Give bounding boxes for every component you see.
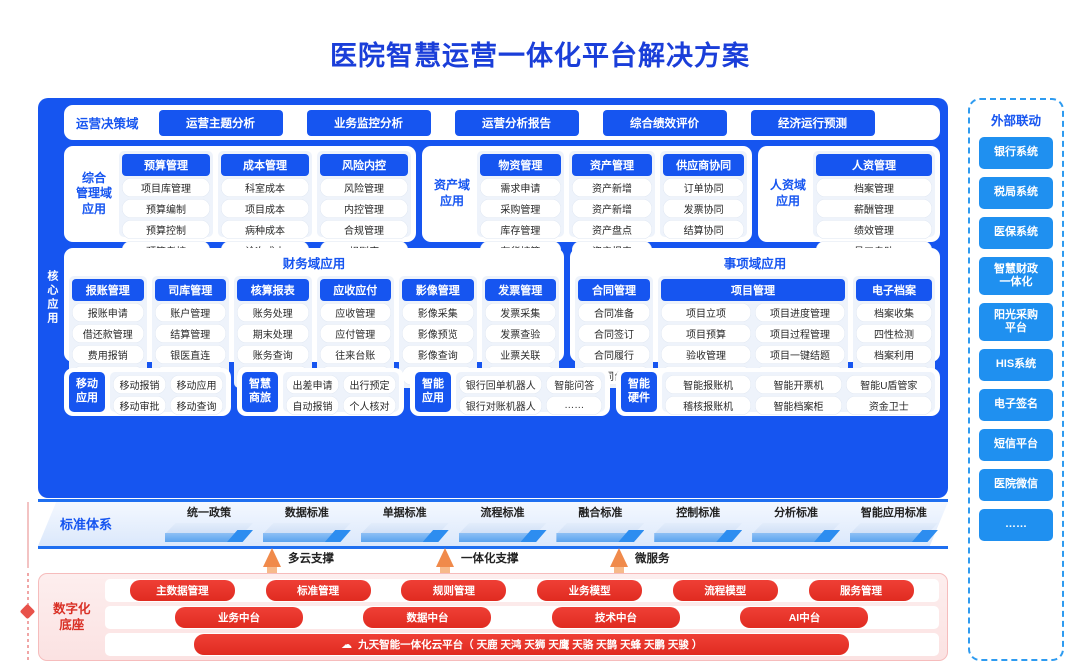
chip[interactable]: 合同签订 [578, 324, 650, 343]
chip[interactable]: 影像预览 [402, 324, 474, 343]
column-head[interactable]: 项目管理 [661, 279, 845, 301]
chip[interactable]: 需求申请 [480, 178, 561, 197]
chip[interactable]: 验收管理 [661, 345, 751, 364]
left-diamond-marker [20, 604, 36, 620]
chip[interactable]: 业票关联 [485, 345, 557, 364]
standard-system-label: 标准体系 [60, 514, 112, 533]
domain-label-hr: 人资域 应用 [763, 151, 813, 237]
sidebar-item-medical-insurance-system[interactable]: 医保系统 [979, 217, 1053, 249]
domain-label-line-1: 综合 [82, 171, 106, 187]
domain-label-line-1: 资产域 [434, 178, 470, 194]
chip[interactable]: 报账申请 [72, 303, 144, 322]
badge-line-1: 智慧 [249, 378, 271, 392]
chip[interactable]: 科室成本 [221, 178, 309, 197]
decision-item-4[interactable]: 经济运行预测 [751, 110, 875, 136]
standard-item[interactable]: 单据标准 [359, 504, 451, 546]
decision-item-3[interactable]: 综合绩效评价 [603, 110, 727, 136]
column-risk-control: 风险内控 风险管理 内控管理 合规管理 规则库 [317, 151, 411, 237]
chip[interactable]: 自动报销 [286, 396, 339, 415]
column-head[interactable]: 司库管理 [155, 279, 227, 301]
chip[interactable]: 档案管理 [816, 178, 932, 197]
left-rail-upper [27, 502, 29, 568]
foundation-row-midplatforms: 业务中台 数据中台 技术中台 AI中台 [105, 606, 939, 629]
column-head[interactable]: 核算报表 [237, 279, 309, 301]
chip[interactable]: 合同履行 [578, 345, 650, 364]
chip[interactable]: 资产新增 [572, 178, 653, 197]
chip[interactable]: 项目过程管理 [755, 324, 845, 343]
foundation-item[interactable]: 服务管理 [809, 580, 914, 601]
smart-travel-badge: 智慧 商旅 [242, 372, 278, 412]
arrow-up-icon [610, 548, 628, 567]
column-asset-management: 资产管理 资产新增 资产新增 资产盘点 资产报表 [569, 151, 656, 237]
decision-domain-label: 运营决策域 [76, 113, 139, 132]
standard-item[interactable]: 流程标准 [457, 504, 549, 546]
foundation-item[interactable]: 流程模型 [673, 580, 778, 601]
standard-item-label: 数据标准 [261, 504, 353, 520]
arrow-label: 微服务 [635, 550, 670, 566]
arrow-up-icon [436, 548, 454, 567]
column-head[interactable]: 人资管理 [816, 154, 932, 176]
sidebar-item-electronic-signature[interactable]: 电子签名 [979, 389, 1053, 421]
column-head[interactable]: 风险内控 [320, 154, 408, 176]
chip[interactable]: 项目成本 [221, 199, 309, 218]
column-head[interactable]: 资产管理 [572, 154, 653, 176]
slab-icon [752, 523, 840, 543]
column-head[interactable]: 物资管理 [480, 154, 561, 176]
decision-item-0[interactable]: 运营主题分析 [159, 110, 283, 136]
chip[interactable]: 发票查验 [485, 324, 557, 343]
sidebar-item-his-system[interactable]: HIS系统 [979, 349, 1053, 381]
standard-item-label: 融合标准 [554, 504, 646, 520]
chip[interactable]: 智能问答 [546, 375, 602, 394]
chip[interactable]: 出行预定 [343, 375, 396, 394]
slab-icon [361, 523, 449, 543]
decision-domain-row: 运营决策域 运营主题分析 业务监控分析 运营分析报告 综合绩效评价 经济运行预测 [64, 105, 940, 140]
smart-hardware-card: 智能 硬件 智能报账机 智能开票机 智能U盾管家 稽核报账机 智能档案柜 资金卫… [616, 368, 940, 416]
chip[interactable]: 账户管理 [155, 303, 227, 322]
core-application-body: 运营决策域 运营主题分析 业务监控分析 运营分析报告 综合绩效评价 经济运行预测… [64, 98, 948, 498]
column-head[interactable]: 报账管理 [72, 279, 144, 301]
chip[interactable]: 智能报账机 [665, 375, 751, 394]
slab-icon [556, 523, 644, 543]
chip[interactable]: 影像查询 [402, 345, 474, 364]
chip[interactable]: 移动报销 [113, 375, 166, 394]
chip[interactable]: 账务查询 [237, 345, 309, 364]
matters-domain-card: 事项域应用 合同管理 合同准备 合同签订 合同履行 合同台账 项目管理 [570, 248, 940, 362]
support-arrow-multi-cloud: 多云支撑 [263, 548, 334, 567]
finance-domain-card: 财务域应用 报账管理 报账申请 借还款管理 费用报销 报账查询 司库管理 账户管… [64, 248, 564, 362]
chip[interactable]: 资金卫士 [846, 396, 932, 415]
chip[interactable]: 移动查询 [170, 396, 223, 415]
foundation-row-capabilities: 主数据管理 标准管理 规则管理 业务模型 流程模型 服务管理 [105, 579, 939, 602]
chip[interactable]: 移动应用 [170, 375, 223, 394]
cloud-platform-label: 九天智能一体化云平台（ 天鹿 天鸿 天狮 天鹰 天骆 天鹊 天蜂 天鹏 天骏 ） [358, 637, 702, 652]
sidebar-item-sunshine-procurement[interactable]: 阳光采购 平台 [979, 303, 1053, 341]
standard-item-label: 分析标准 [750, 504, 842, 520]
sidebar-item-bank-system[interactable]: 银行系统 [979, 137, 1053, 169]
chip[interactable]: …… [546, 396, 602, 415]
standard-item-label: 流程标准 [457, 504, 549, 520]
column-head[interactable]: 合同管理 [578, 279, 650, 301]
chip[interactable]: 出差申请 [286, 375, 339, 394]
chip[interactable]: 智能开票机 [755, 375, 841, 394]
chip[interactable]: 资产盘点 [572, 220, 653, 239]
matters-domain-title: 事项域应用 [575, 252, 935, 276]
chip[interactable]: 合同准备 [578, 303, 650, 322]
foundation-label-line-1: 数字化 [53, 601, 91, 617]
foundation-item[interactable]: 业务模型 [537, 580, 642, 601]
chip[interactable]: 项目库管理 [122, 178, 210, 197]
cloud-platform-banner[interactable]: ☁ 九天智能一体化云平台（ 天鹿 天鸿 天狮 天鹰 天骆 天鹊 天蜂 天鹏 天骏… [194, 634, 849, 655]
column-material-management: 物资管理 需求申请 采购管理 库存管理 存货核算 [477, 151, 564, 237]
sidebar-title: 外部联动 [991, 110, 1041, 129]
standard-item-label: 智能应用标准 [848, 504, 940, 520]
chip[interactable]: 病种成本 [221, 220, 309, 239]
diagram-frame: 核心应用 运营决策域 运营主题分析 业务监控分析 运营分析报告 综合绩效评价 经… [0, 78, 1080, 627]
chip[interactable]: 项目预算 [661, 324, 751, 343]
domain-card-hr: 人资域 应用 人资管理 档案管理 薪酬管理 绩效管理 员工自助 [758, 146, 940, 242]
foundation-item[interactable]: 主数据管理 [130, 580, 235, 601]
chip[interactable]: 发票协同 [663, 199, 744, 218]
chip[interactable]: 个人核对 [343, 396, 396, 415]
badge-line-2: 商旅 [249, 392, 271, 406]
chip[interactable]: 应付管理 [320, 324, 392, 343]
cloud-icon: ☁ [341, 638, 352, 651]
domain-label-line-2: 管理域 [76, 186, 112, 202]
badge-line-2: 应用 [76, 392, 98, 406]
chip[interactable]: 智能U盾管家 [846, 375, 932, 394]
standard-items: 统一政策 数据标准 单据标准 流程标准 融合标准 控制标准 [163, 502, 940, 546]
foundation-row-cloud: ☁ 九天智能一体化云平台（ 天鹿 天鸿 天狮 天鹰 天骆 天鹊 天蜂 天鹏 天骏… [105, 633, 939, 656]
slab-icon [850, 523, 938, 543]
chip[interactable]: 影像采集 [402, 303, 474, 322]
smart-application-card: 智能 应用 银行回单机器人 智能问答 银行对账机器人 …… [410, 368, 610, 416]
chip[interactable]: 移动审批 [113, 396, 166, 415]
standard-item[interactable]: 融合标准 [554, 504, 646, 546]
chip[interactable]: 项目立项 [661, 303, 751, 322]
chip[interactable]: 银医直连 [155, 345, 227, 364]
chip[interactable]: 内控管理 [320, 199, 408, 218]
domain-label-comprehensive: 综合 管理域 应用 [69, 151, 119, 237]
slab-icon [654, 523, 742, 543]
chip[interactable]: 订单协同 [663, 178, 744, 197]
domain-card-comprehensive: 综合 管理域 应用 预算管理 项目库管理 预算编制 预算控制 预算考核 [64, 146, 416, 242]
chip[interactable]: 薪酬管理 [816, 199, 932, 218]
column-head[interactable]: 预算管理 [122, 154, 210, 176]
domain-label-asset: 资产域 应用 [427, 151, 477, 237]
column-head[interactable]: 应收应付 [320, 279, 392, 301]
chip[interactable]: 预算控制 [122, 220, 210, 239]
standard-system-band: 标准体系 统一政策 数据标准 单据标准 流程标准 融合标准 [38, 502, 948, 546]
external-linkage-sidebar: 外部联动 银行系统 税局系统 医保系统 智慧财政 一体化 阳光采购 平台 HIS… [968, 98, 1064, 661]
badge-line-1: 智能 [422, 378, 444, 392]
column-cost-management: 成本管理 科室成本 项目成本 病种成本 诊次成本 [218, 151, 312, 237]
digital-foundation-label: 数字化 底座 [45, 601, 99, 634]
mobile-application-badge: 移动 应用 [69, 372, 105, 412]
standard-item[interactable]: 数据标准 [261, 504, 353, 546]
chip[interactable]: 应收管理 [320, 303, 392, 322]
foundation-item[interactable]: 业务中台 [175, 607, 303, 628]
chip[interactable]: 档案收集 [856, 303, 932, 322]
mobile-application-card: 移动 应用 移动报销 移动应用 移动审批 移动查询 [64, 368, 231, 416]
standard-item[interactable]: 统一政策 [163, 504, 255, 546]
chip[interactable]: 绩效管理 [816, 220, 932, 239]
chip[interactable]: 结算协同 [663, 220, 744, 239]
standard-item[interactable]: 智能应用标准 [848, 504, 940, 546]
foundation-item[interactable]: AI中台 [740, 607, 868, 628]
bottom-cards-row: 移动 应用 移动报销 移动应用 移动审批 移动查询 [64, 368, 940, 416]
column-budget-management: 预算管理 项目库管理 预算编制 预算控制 预算考核 [119, 151, 213, 237]
chip[interactable]: 发票采集 [485, 303, 557, 322]
column-hr-management: 人资管理 档案管理 薪酬管理 绩效管理 员工自助 [813, 151, 935, 237]
domain-label-line-2: 应用 [440, 194, 464, 210]
core-application-panel: 核心应用 运营决策域 运营主题分析 业务监控分析 运营分析报告 综合绩效评价 经… [38, 98, 948, 498]
sidebar-item-more[interactable]: …… [979, 509, 1053, 541]
finance-matters-row: 财务域应用 报账管理 报账申请 借还款管理 费用报销 报账查询 司库管理 账户管… [64, 248, 940, 362]
chip[interactable]: 风险管理 [320, 178, 408, 197]
badge-line-2: 硬件 [628, 392, 650, 406]
standard-item[interactable]: 控制标准 [652, 504, 744, 546]
sidebar-item-sms-platform[interactable]: 短信平台 [979, 429, 1053, 461]
core-application-label: 核心应用 [38, 98, 64, 498]
arrow-label: 一体化支撑 [461, 550, 519, 566]
standard-item[interactable]: 分析标准 [750, 504, 842, 546]
column-supplier-collaboration: 供应商协同 订单协同 发票协同 结算协同 [660, 151, 747, 237]
badge-line-1: 智能 [628, 378, 650, 392]
sidebar-item-tax-system[interactable]: 税局系统 [979, 177, 1053, 209]
chip[interactable]: 项目进度管理 [755, 303, 845, 322]
smart-application-badge: 智能 应用 [415, 372, 451, 412]
sidebar-item-hospital-wechat[interactable]: 医院微信 [979, 469, 1053, 501]
chip[interactable]: 借还款管理 [72, 324, 144, 343]
chip[interactable]: 智能档案柜 [755, 396, 841, 415]
column-head[interactable]: 成本管理 [221, 154, 309, 176]
digital-foundation-panel: 数字化 底座 主数据管理 标准管理 规则管理 业务模型 流程模型 服务管理 业务… [38, 573, 948, 661]
slab-icon [263, 523, 351, 543]
domain-card-asset: 资产域 应用 物资管理 需求申请 采购管理 库存管理 存货核算 资产管理 [422, 146, 752, 242]
badge-line-2: 应用 [422, 392, 444, 406]
foundation-label-line-2: 底座 [53, 617, 91, 633]
chip[interactable]: 四性检测 [856, 324, 932, 343]
chip[interactable]: 预算编制 [122, 199, 210, 218]
chip[interactable]: 合规管理 [320, 220, 408, 239]
support-arrow-microservice: 微服务 [610, 548, 670, 567]
domain-label-line-3: 应用 [82, 202, 106, 218]
domain-cards-row: 综合 管理域 应用 预算管理 项目库管理 预算编制 预算控制 预算考核 [64, 146, 940, 242]
column-head[interactable]: 影像管理 [402, 279, 474, 301]
chip[interactable]: 项目一键结题 [755, 345, 845, 364]
foundation-rows: 主数据管理 标准管理 规则管理 业务模型 流程模型 服务管理 业务中台 数据中台… [105, 579, 939, 656]
badge-line-1: 移动 [76, 378, 98, 392]
chip[interactable]: 资产新增 [572, 199, 653, 218]
decision-item-1[interactable]: 业务监控分析 [307, 110, 431, 136]
decision-item-2[interactable]: 运营分析报告 [455, 110, 579, 136]
domain-label-line-2: 应用 [776, 194, 800, 210]
arrow-label: 多云支撑 [288, 550, 334, 566]
chip[interactable]: 费用报销 [72, 345, 144, 364]
domain-label-line-1: 人资域 [770, 178, 806, 194]
chip[interactable]: 银行回单机器人 [459, 375, 542, 394]
smart-hardware-badge: 智能 硬件 [621, 372, 657, 412]
arrow-up-icon [263, 548, 281, 567]
chip[interactable]: 账务处理 [237, 303, 309, 322]
chip[interactable]: 往来台账 [320, 345, 392, 364]
foundation-item[interactable]: 技术中台 [552, 607, 680, 628]
support-arrows-row: 多云支撑 一体化支撑 微服务 [38, 548, 948, 576]
standard-item-label: 控制标准 [652, 504, 744, 520]
slab-icon [165, 523, 253, 543]
standard-item-label: 统一政策 [163, 504, 255, 520]
foundation-item[interactable]: 规则管理 [401, 580, 506, 601]
chip[interactable]: 银行对账机器人 [459, 396, 542, 415]
chip[interactable]: 档案利用 [856, 345, 932, 364]
chip[interactable]: 稽核报账机 [665, 396, 751, 415]
chip[interactable]: 采购管理 [480, 199, 561, 218]
chip[interactable]: 结算管理 [155, 324, 227, 343]
foundation-item[interactable]: 标准管理 [266, 580, 371, 601]
column-head[interactable]: 供应商协同 [663, 154, 744, 176]
chip[interactable]: 库存管理 [480, 220, 561, 239]
support-arrow-integration: 一体化支撑 [436, 548, 519, 567]
chip[interactable]: 期末处理 [237, 324, 309, 343]
standard-item-label: 单据标准 [359, 504, 451, 520]
foundation-item[interactable]: 数据中台 [363, 607, 491, 628]
smart-travel-card: 智慧 商旅 出差申请 出行预定 自动报销 个人核对 [237, 368, 404, 416]
finance-domain-title: 财务域应用 [69, 252, 559, 276]
column-head[interactable]: 发票管理 [485, 279, 557, 301]
page-title: 医院智慧运营一体化平台解决方案 [0, 0, 1080, 78]
sidebar-item-smart-finance[interactable]: 智慧财政 一体化 [979, 257, 1053, 295]
column-head[interactable]: 电子档案 [856, 279, 932, 301]
slab-icon [459, 523, 547, 543]
